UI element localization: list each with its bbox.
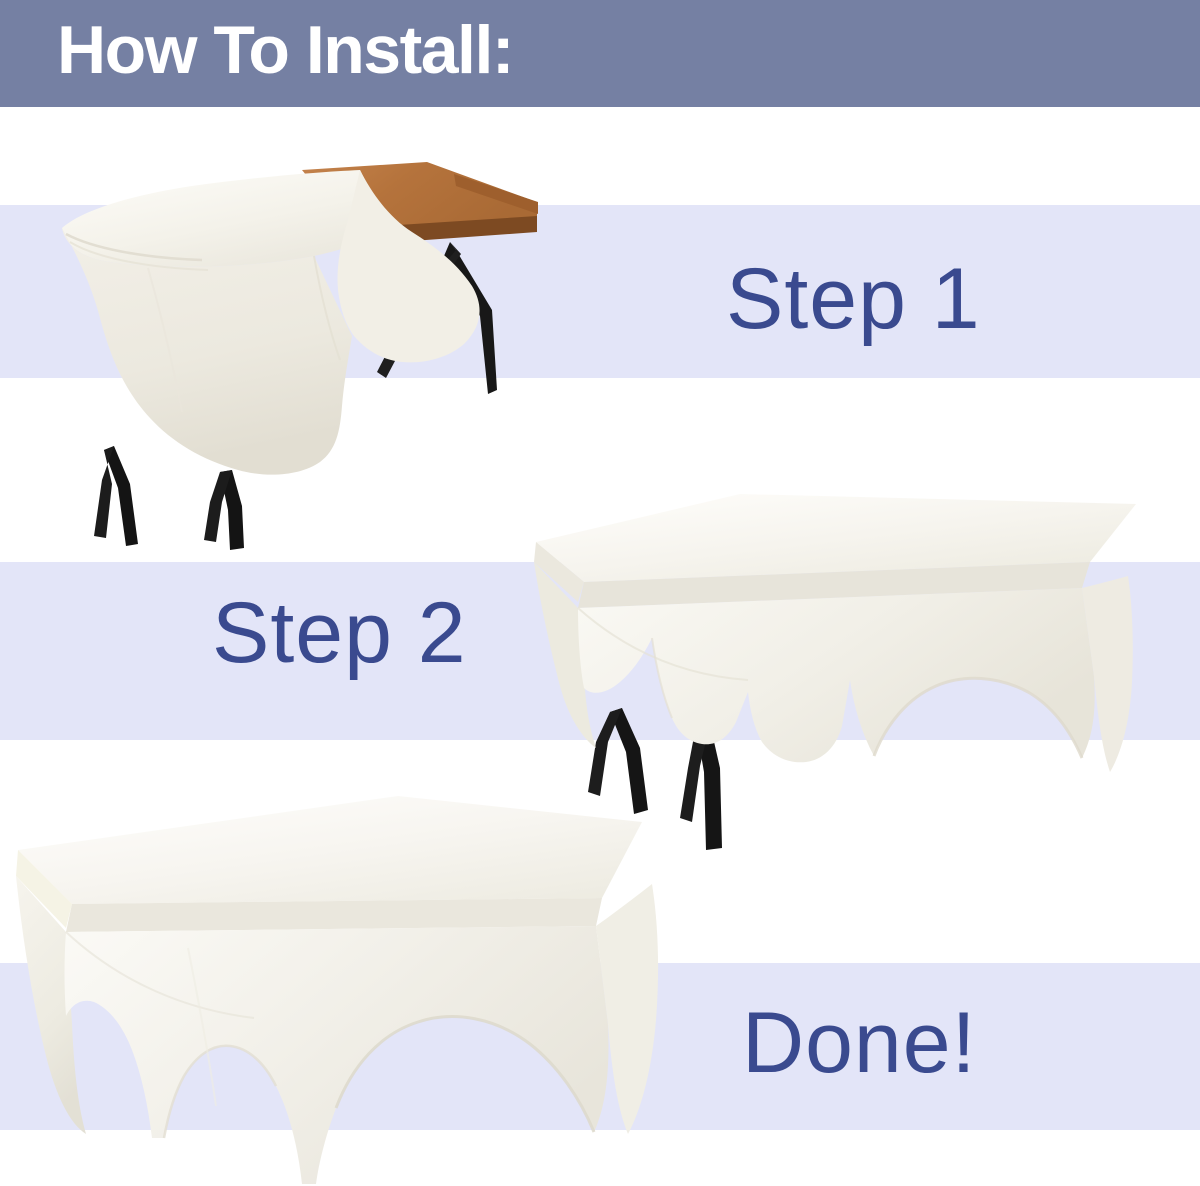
done-photo [2,788,674,1186]
step-1-label: Step 1 [726,256,981,342]
page-title: How To Install: [57,16,513,84]
cloth-front-panel-arched [65,926,609,1184]
cloth-tabletop [18,796,642,904]
step-2-label: Step 2 [212,590,467,676]
done-label: Done! [742,1000,977,1086]
cloth-front-panel-arched [578,588,1095,762]
infographic-page: How To Install: [0,0,1200,1186]
header-band: How To Install: [0,0,1200,107]
